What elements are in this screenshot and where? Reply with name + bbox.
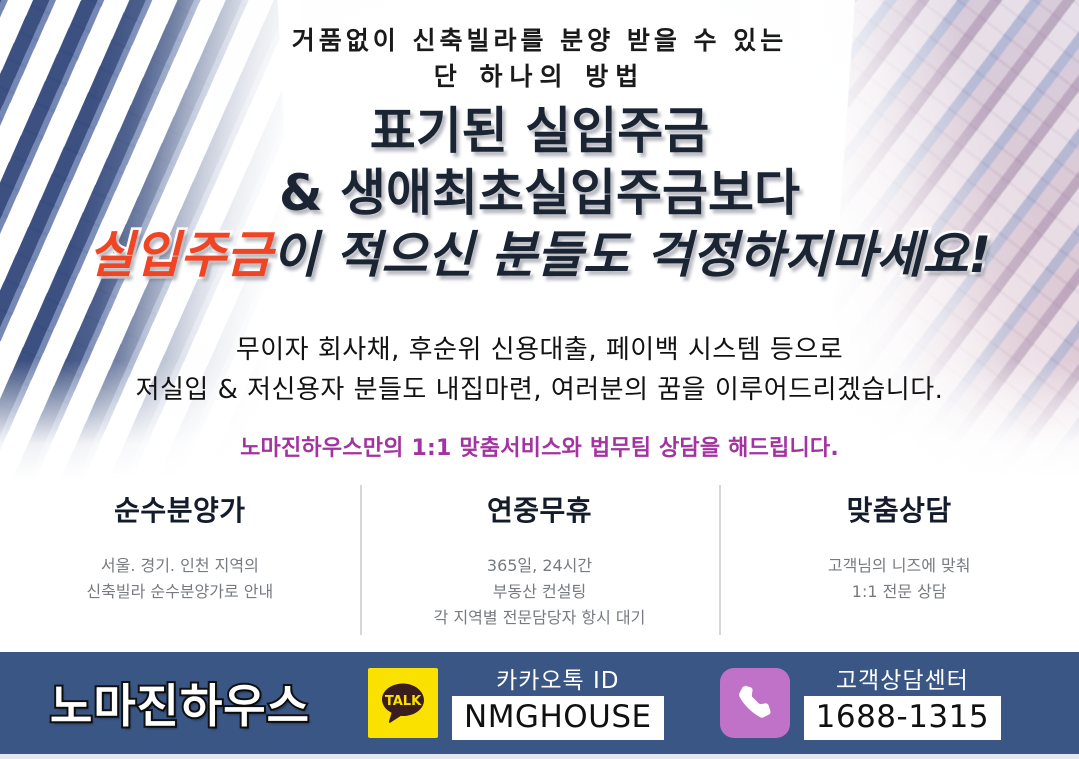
service-tagline: 노마진하우스만의 1:1 맞춤서비스와 법무팀 상담을 해드립니다. — [0, 430, 1079, 462]
body-copy: 무이자 회사채, 후순위 신용대출, 페이백 시스템 등으로 저실입 & 저신용… — [0, 330, 1079, 410]
feature-body: 서울. 경기. 인천 지역의 신축빌라 순수분양가로 안내 — [0, 553, 360, 605]
feature-columns: 순수분양가 서울. 경기. 인천 지역의 신축빌라 순수분양가로 안내 연중무휴… — [0, 483, 1079, 648]
feature-title: 연중무휴 — [360, 491, 720, 531]
hero-line-3: 실입주금이 적으신 분들도 걱정하지마세요! — [0, 224, 1079, 286]
feature-body-line-2: 1:1 전문 상담 — [719, 579, 1079, 605]
feature-body-line-1: 서울. 경기. 인천 지역의 — [0, 553, 360, 579]
feature-body-line-3: 각 지역별 전문담당자 항시 대기 — [360, 605, 720, 631]
kakao-label: 카카오톡 ID — [452, 666, 664, 696]
company-brand-name: 노마진하우스 — [0, 670, 360, 736]
hero-line-3-rest: 이 적으신 분들도 걱정하지마세요! — [272, 226, 991, 284]
feature-title: 순수분양가 — [0, 491, 360, 531]
kakao-icon-label: TALK — [385, 694, 422, 709]
kicker-line-1: 거품없이 신축빌라를 분양 받을 수 있는 — [292, 26, 788, 55]
phone-icon[interactable] — [720, 668, 790, 738]
body-line-2: 저실입 & 저신용자 분들도 내집마련, 여러분의 꿈을 이루어드리겠습니다. — [0, 370, 1079, 410]
advertisement-banner: 거품없이 신축빌라를 분양 받을 수 있는 단 하나의 방법 표기된 실입주금 … — [0, 0, 1079, 759]
kakao-contact-group[interactable]: TALK 카카오톡 ID NMGHOUSE — [368, 666, 664, 740]
feature-column-open-year-round: 연중무휴 365일, 24시간 부동산 컨설팅 각 지역별 전문담당자 항시 대… — [360, 483, 720, 648]
phone-contact-text: 고객상담센터 1688-1315 — [804, 666, 1001, 740]
feature-body-line-2: 부동산 컨설팅 — [360, 579, 720, 605]
feature-column-pure-price: 순수분양가 서울. 경기. 인천 지역의 신축빌라 순수분양가로 안내 — [0, 483, 360, 648]
feature-body: 365일, 24시간 부동산 컨설팅 각 지역별 전문담당자 항시 대기 — [360, 553, 720, 631]
footer-contact-bar: 노마진하우스 TALK 카카오톡 ID NMGHOUSE 고객상담센터 — [0, 652, 1079, 759]
phone-contact-group[interactable]: 고객상담센터 1688-1315 — [720, 666, 1001, 740]
feature-body-line-1: 고객님의 니즈에 맞춰 — [719, 553, 1079, 579]
body-line-1: 무이자 회사채, 후순위 신용대출, 페이백 시스템 등으로 — [0, 330, 1079, 370]
phone-label: 고객상담센터 — [804, 666, 1001, 696]
feature-title: 맞춤상담 — [719, 491, 1079, 531]
hero-line-1: 표기된 실입주금 — [0, 100, 1079, 162]
hero-headline: 표기된 실입주금 & 생애최초실입주금보다 실입주금이 적으신 분들도 걱정하지… — [0, 100, 1079, 286]
kicker-text: 거품없이 신축빌라를 분양 받을 수 있는 단 하나의 방법 — [0, 23, 1079, 95]
phone-number-value: 1688-1315 — [804, 696, 1001, 740]
hero-line-3-highlight: 실입주금 — [88, 226, 272, 284]
feature-body-line-1: 365일, 24시간 — [360, 553, 720, 579]
feature-body-line-2: 신축빌라 순수분양가로 안내 — [0, 579, 360, 605]
kakao-contact-text: 카카오톡 ID NMGHOUSE — [452, 666, 664, 740]
kakaotalk-icon[interactable]: TALK — [368, 668, 438, 738]
kicker-line-2: 단 하나의 방법 — [0, 59, 1079, 95]
feature-column-custom-consulting: 맞춤상담 고객님의 니즈에 맞춰 1:1 전문 상담 — [719, 483, 1079, 648]
feature-body: 고객님의 니즈에 맞춰 1:1 전문 상담 — [719, 553, 1079, 605]
hero-line-2: & 생애최초실입주금보다 — [0, 162, 1079, 224]
headline-content: 거품없이 신축빌라를 분양 받을 수 있는 단 하나의 방법 표기된 실입주금 … — [0, 0, 1079, 480]
kakao-id-value: NMGHOUSE — [452, 696, 664, 740]
